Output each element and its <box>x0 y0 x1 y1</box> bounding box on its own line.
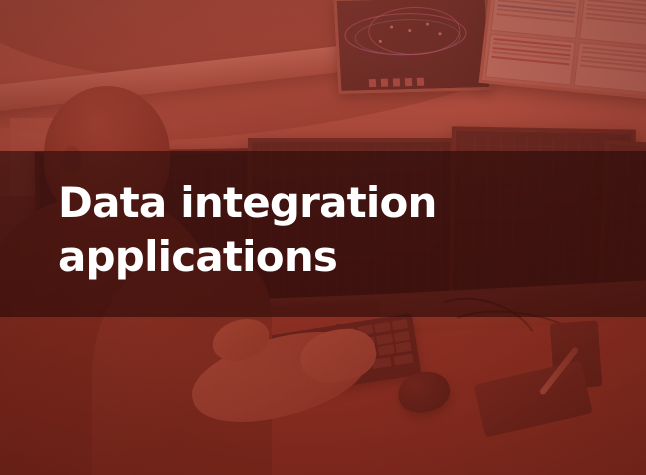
headline-title: Data integration applications <box>58 176 598 284</box>
hero-card: Data integration applications <box>0 0 646 475</box>
